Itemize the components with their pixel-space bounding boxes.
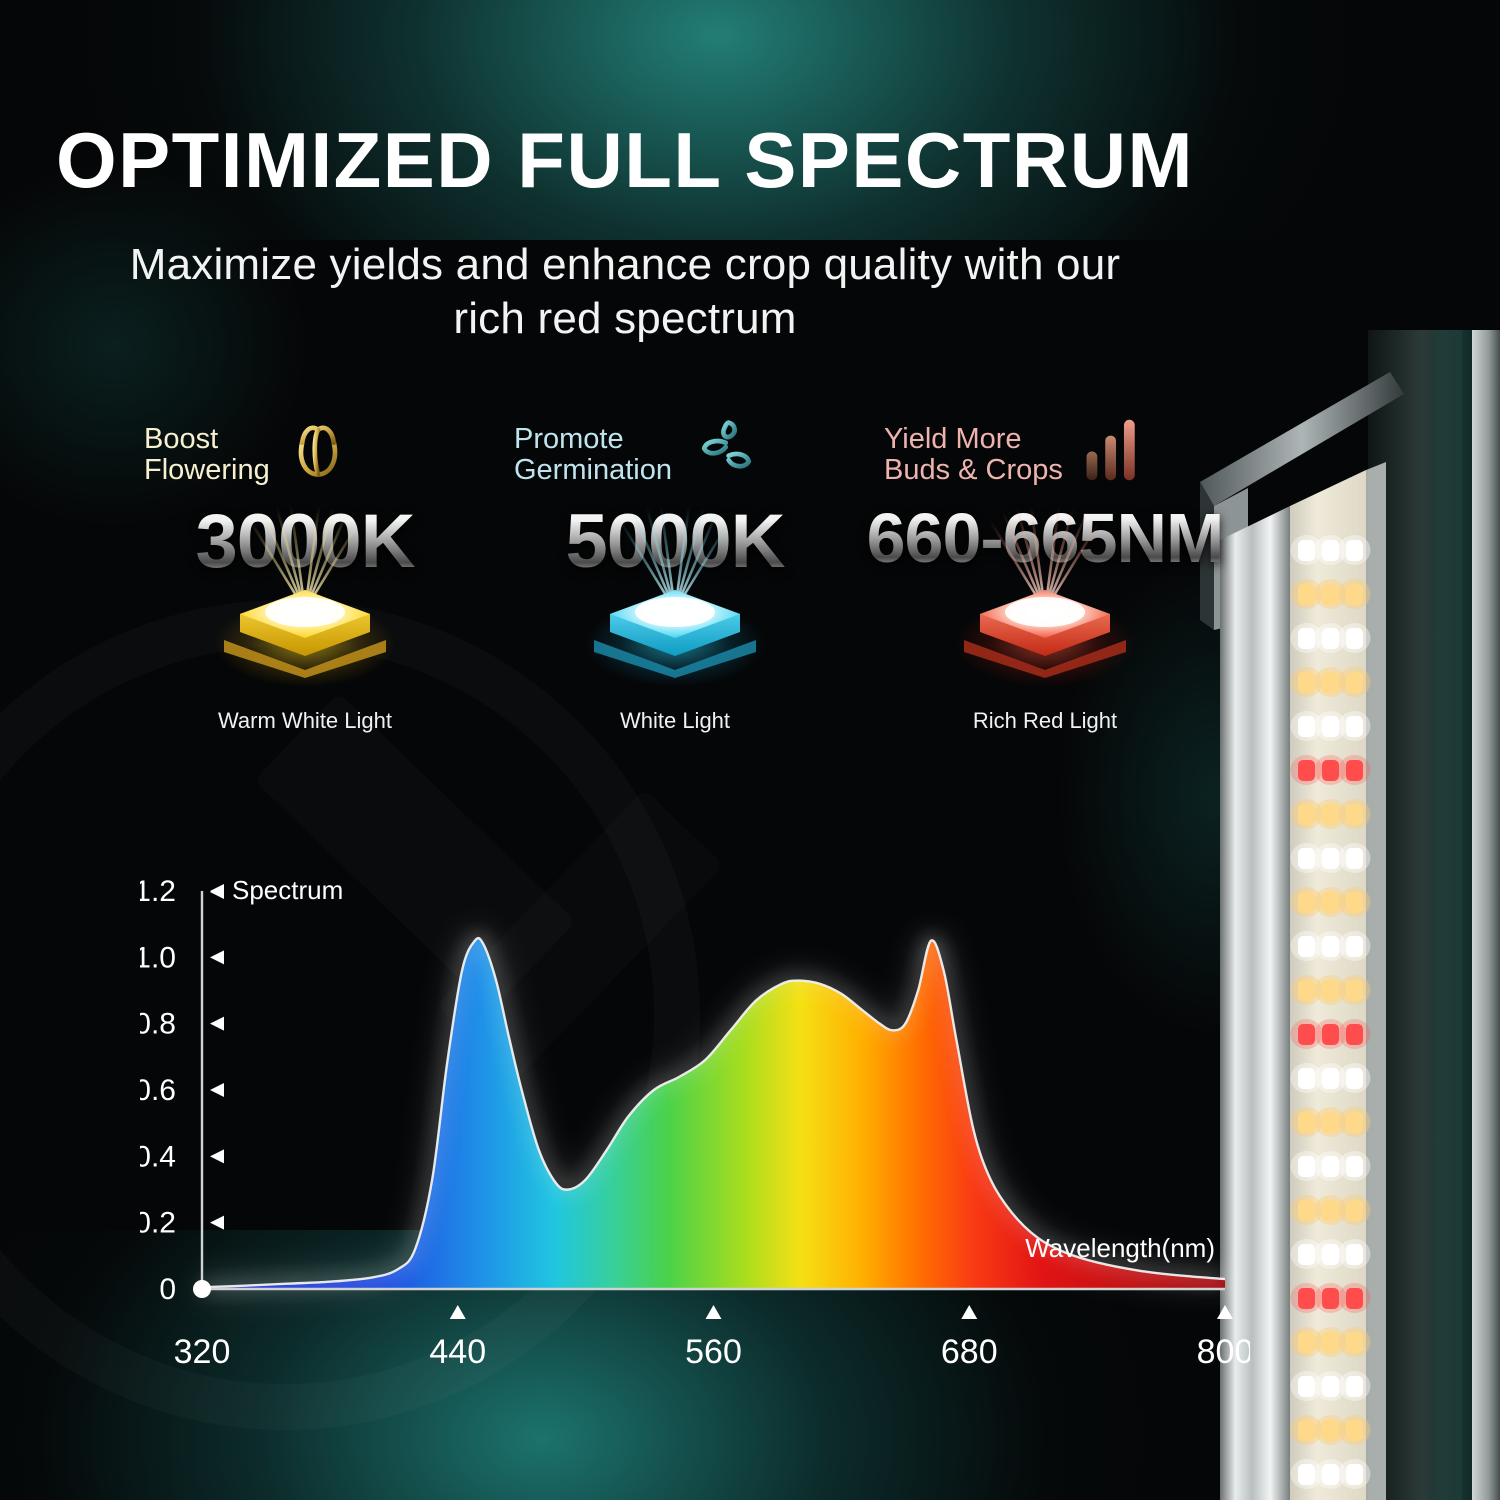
x-tick-label: 440 <box>429 1333 486 1371</box>
y-tick-marker <box>210 1216 224 1230</box>
led-diode <box>1298 716 1315 737</box>
led-diode <box>1298 1024 1315 1045</box>
y-tick-label: 1.2 <box>140 875 176 908</box>
feature-title: Boost Flowering <box>144 420 270 485</box>
x-tick-label: 320 <box>174 1333 231 1371</box>
led-diode <box>1346 716 1363 737</box>
led-diode <box>1346 1156 1363 1177</box>
led-diode <box>1298 1156 1315 1177</box>
led-diode <box>1346 584 1363 605</box>
feature-caption: White Light <box>490 708 860 734</box>
led-diode <box>1346 936 1363 957</box>
led-diode <box>1298 1332 1315 1353</box>
led-diode <box>1322 1112 1339 1133</box>
y-tick-marker <box>210 1017 224 1031</box>
y-tick-marker <box>210 950 224 964</box>
led-diode <box>1298 1244 1315 1265</box>
page-subtitle: Maximize yields and enhance crop quality… <box>0 238 1250 345</box>
led-diode <box>1322 936 1339 957</box>
led-diode <box>1346 804 1363 825</box>
x-tick-label: 800 <box>1197 1333 1250 1371</box>
led-chip-body <box>950 570 1140 678</box>
feature-card-yield-more: Yield More Buds & Crops 660-665NM <box>860 420 1230 750</box>
led-chip-warm-white <box>120 560 490 690</box>
led-diode <box>1322 1464 1339 1485</box>
led-diode <box>1298 1200 1315 1221</box>
x-tick-marker <box>961 1305 977 1319</box>
led-diode <box>1322 1200 1339 1221</box>
y-tick-label: 0 <box>159 1273 176 1306</box>
led-diode <box>1322 628 1339 649</box>
led-diode <box>1322 1376 1339 1397</box>
led-diode <box>1298 804 1315 825</box>
led-diode <box>1298 628 1315 649</box>
led-diode <box>1322 672 1339 693</box>
led-diode <box>1298 892 1315 913</box>
feature-caption: Warm White Light <box>120 708 490 734</box>
led-diode <box>1298 672 1315 693</box>
led-diode <box>1298 760 1315 781</box>
header: OPTIMIZED FULL SPECTRUM Maximize yields … <box>0 0 1250 345</box>
led-diode <box>1322 1420 1339 1441</box>
led-diode <box>1298 848 1315 869</box>
y-axis-label-marker <box>210 885 224 899</box>
x-tick-label: 560 <box>685 1333 742 1371</box>
led-diode <box>1322 540 1339 561</box>
led-diode <box>1346 760 1363 781</box>
y-tick-marker <box>210 1083 224 1097</box>
spectrum-chart: 00.20.40.60.81.01.2 320440560680800 Spec… <box>140 865 1250 1375</box>
feature-card-promote-germination: Promote Germination 5000K <box>490 420 860 750</box>
y-tick-label: 1.0 <box>140 941 176 974</box>
ascending-bars-icon <box>1073 414 1149 486</box>
y-tick-label: 0.8 <box>140 1008 176 1041</box>
led-diode <box>1346 540 1363 561</box>
led-diode <box>1298 1376 1315 1397</box>
sprout-seedling-icon <box>682 414 758 486</box>
led-chip-white <box>490 560 860 690</box>
y-tick-marker <box>210 1149 224 1163</box>
led-diode <box>1298 584 1315 605</box>
led-diode <box>1322 980 1339 1001</box>
led-diode <box>1346 1244 1363 1265</box>
origin-dot <box>193 1280 211 1298</box>
feature-card-boost-flowering: Boost Flowering 3000K <box>120 420 490 750</box>
feature-heading: Yield More Buds & Crops <box>860 420 1230 486</box>
led-diode <box>1346 848 1363 869</box>
feature-list: Boost Flowering 3000K <box>120 420 1230 750</box>
led-chip-body <box>580 570 770 678</box>
led-diode <box>1322 584 1339 605</box>
led-diode <box>1346 1112 1363 1133</box>
led-diode <box>1298 1288 1315 1309</box>
x-axis-label: Wavelength(nm) <box>1025 1233 1215 1263</box>
led-diode <box>1322 716 1339 737</box>
led-diode <box>1298 1112 1315 1133</box>
y-tick-label: 0.4 <box>140 1140 176 1173</box>
led-diode <box>1346 1024 1363 1045</box>
led-diode <box>1298 1464 1315 1485</box>
y-tick-label: 0.6 <box>140 1074 176 1107</box>
led-diode <box>1346 1068 1363 1089</box>
led-diode <box>1298 1068 1315 1089</box>
x-tick-marker <box>706 1305 722 1319</box>
led-diode <box>1322 1068 1339 1089</box>
led-diode <box>1346 980 1363 1001</box>
led-diode <box>1298 936 1315 957</box>
led-chip-body <box>210 570 400 678</box>
spectrum-chart-svg: 00.20.40.60.81.01.2 320440560680800 Spec… <box>140 865 1250 1375</box>
feature-title: Yield More Buds & Crops <box>884 420 1063 485</box>
page-title: OPTIMIZED FULL SPECTRUM <box>0 115 1250 206</box>
feature-heading: Promote Germination <box>490 420 860 486</box>
feature-heading: Boost Flowering <box>120 420 490 486</box>
x-tick-marker <box>1217 1305 1233 1319</box>
feature-caption: Rich Red Light <box>860 708 1230 734</box>
led-chip-red <box>860 560 1230 690</box>
led-diode <box>1346 1288 1363 1309</box>
led-diode <box>1346 892 1363 913</box>
led-diode <box>1322 760 1339 781</box>
led-diode <box>1346 1376 1363 1397</box>
led-diode <box>1346 672 1363 693</box>
x-tick-marker <box>450 1305 466 1319</box>
x-axis-ticks: 320440560680800 <box>174 1305 1250 1371</box>
feature-title: Promote Germination <box>514 420 672 485</box>
led-diode <box>1322 892 1339 913</box>
led-diode <box>1298 540 1315 561</box>
led-diode <box>1322 1332 1339 1353</box>
led-diode <box>1322 1024 1339 1045</box>
led-diode <box>1346 1332 1363 1353</box>
led-diode <box>1322 1288 1339 1309</box>
tulip-flower-icon <box>280 414 356 486</box>
led-diode <box>1346 1464 1363 1485</box>
led-diode <box>1322 848 1339 869</box>
led-diode <box>1322 1244 1339 1265</box>
y-axis-ticks: 00.20.40.60.81.01.2 <box>140 875 224 1306</box>
y-axis-label: Spectrum <box>232 875 343 905</box>
led-diode <box>1298 1420 1315 1441</box>
x-tick-label: 680 <box>941 1333 998 1371</box>
led-diode <box>1346 628 1363 649</box>
led-diode <box>1346 1420 1363 1441</box>
led-diode <box>1322 1156 1339 1177</box>
led-diode <box>1346 1200 1363 1221</box>
led-diode <box>1322 804 1339 825</box>
y-tick-label: 0.2 <box>140 1207 176 1240</box>
led-diode <box>1298 980 1315 1001</box>
